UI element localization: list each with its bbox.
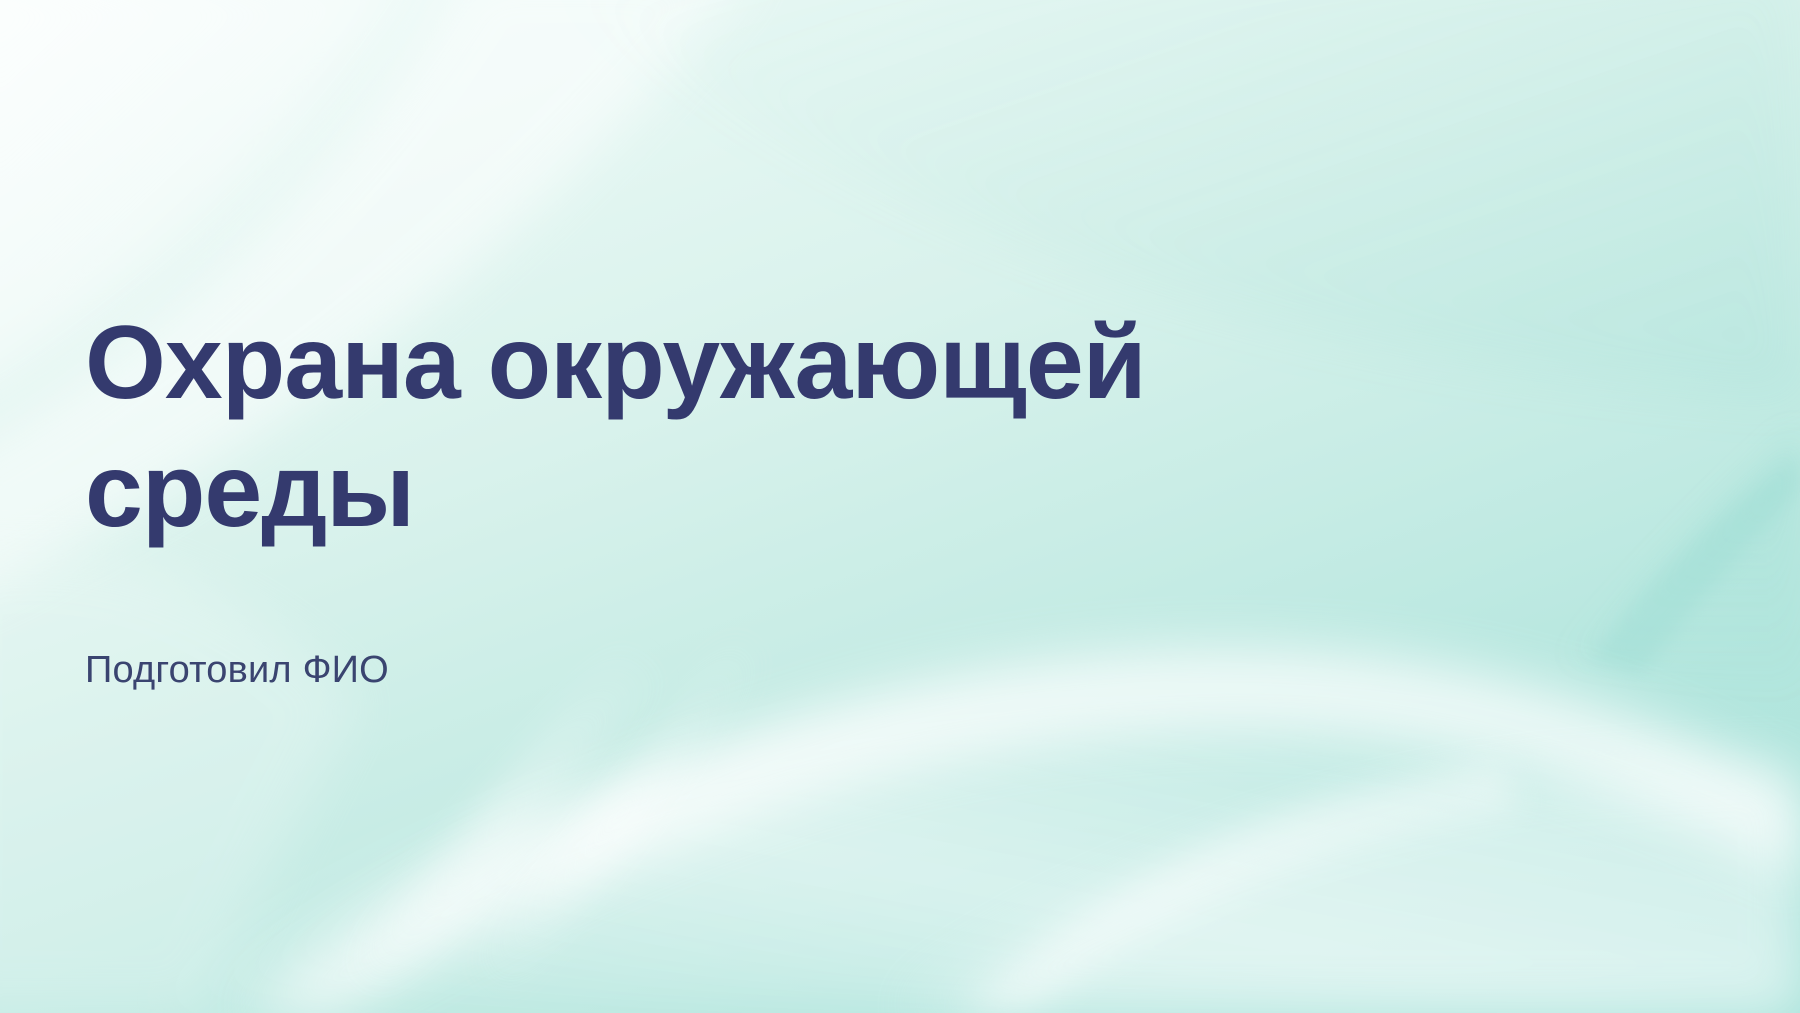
title-block: Охрана окружающей среды Подготовил ФИО bbox=[85, 300, 1485, 693]
wave-bottom-right bbox=[900, 760, 1800, 1013]
light-crescent bbox=[240, 647, 1800, 1013]
slide-subtitle: Подготовил ФИО bbox=[85, 556, 1485, 694]
light-ray-thin-3 bbox=[960, 760, 1520, 1013]
slide-title: Охрана окружающей среды bbox=[85, 300, 1335, 556]
title-slide: Охрана окружающей среды Подготовил ФИО bbox=[0, 0, 1800, 1013]
wave-right-diagonal-line bbox=[1590, 455, 1800, 675]
wave-right-diagonal bbox=[1560, 430, 1800, 700]
light-ray-main bbox=[120, 690, 1800, 1013]
